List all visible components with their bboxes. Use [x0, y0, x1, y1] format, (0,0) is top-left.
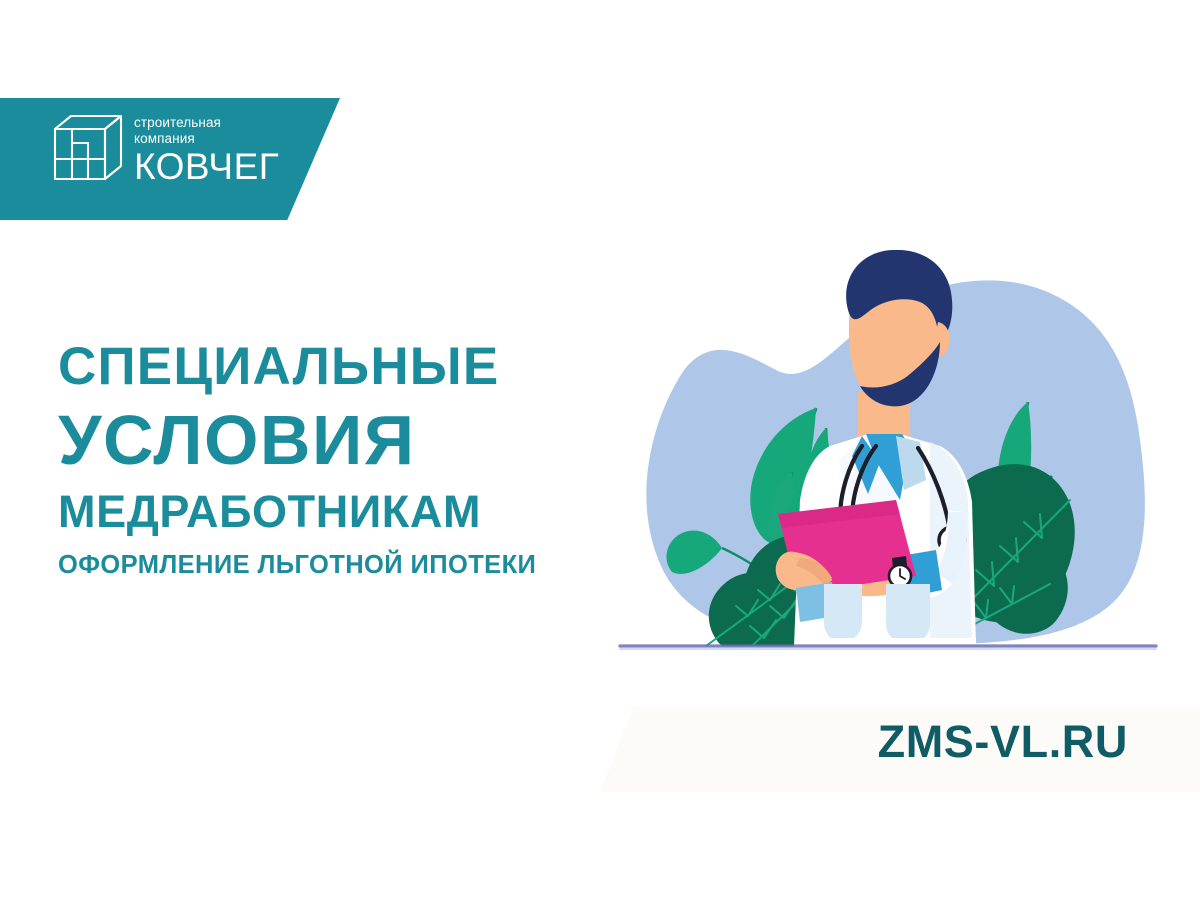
- logo-text: строительная компания КОВЧЕГ: [134, 115, 279, 185]
- logo-company-name: КОВЧЕГ: [134, 148, 279, 185]
- site-url[interactable]: ZMS-VL.RU: [878, 716, 1128, 768]
- logo[interactable]: строительная компания КОВЧЕГ: [52, 112, 279, 188]
- cube-wireframe-icon: [52, 112, 124, 188]
- coat-pocket-right: [886, 584, 930, 644]
- logo-tagline-line2: компания: [134, 131, 279, 147]
- headline-block: СПЕЦИАЛЬНЫЕ УСЛОВИЯ МЕДРАБОТНИКАМ ОФОРМЛ…: [58, 340, 578, 580]
- doctor-with-clipboard-illustration: [600, 250, 1170, 660]
- promo-banner: строительная компания КОВЧЕГ СПЕЦИАЛЬНЫЕ…: [0, 0, 1200, 900]
- headline-line-2: УСЛОВИЯ: [58, 405, 578, 475]
- logo-tagline-line1: строительная: [134, 115, 279, 131]
- headline-subtitle: ОФОРМЛЕНИЕ ЛЬГОТНОЙ ИПОТЕКИ: [58, 551, 578, 580]
- headline-line-1: СПЕЦИАЛЬНЫЕ: [58, 340, 578, 393]
- headline-line-3: МЕДРАБОТНИКАМ: [58, 489, 578, 534]
- coat-pocket-left: [824, 584, 862, 642]
